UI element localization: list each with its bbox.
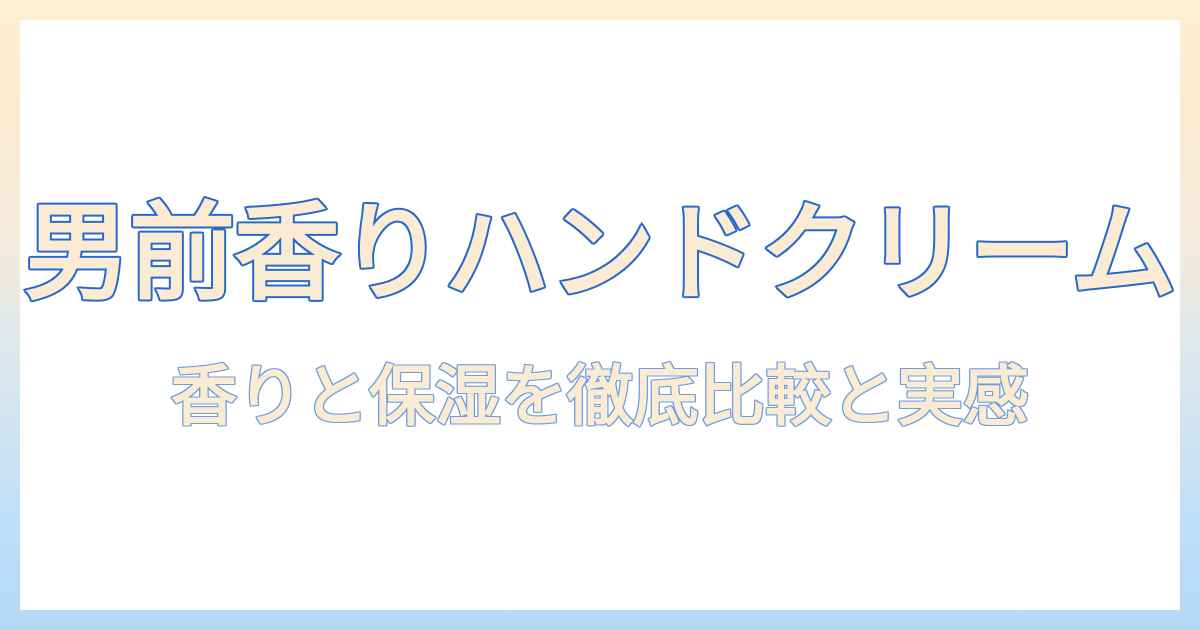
subheadline-container: 香りと保湿を徹底比較と実感 bbox=[20, 359, 1180, 435]
page-title: 男前香りハンドクリーム bbox=[24, 195, 1176, 314]
headline-container: 男前香りハンドクリーム bbox=[20, 195, 1180, 314]
og-card: 男前香りハンドクリーム 香りと保湿を徹底比較と実感 bbox=[0, 0, 1200, 630]
content-stack: 男前香りハンドクリーム 香りと保湿を徹底比較と実感 bbox=[20, 20, 1180, 610]
page-subtitle: 香りと保湿を徹底比較と実感 bbox=[171, 359, 1029, 435]
content-panel: 男前香りハンドクリーム 香りと保湿を徹底比較と実感 bbox=[20, 20, 1180, 610]
